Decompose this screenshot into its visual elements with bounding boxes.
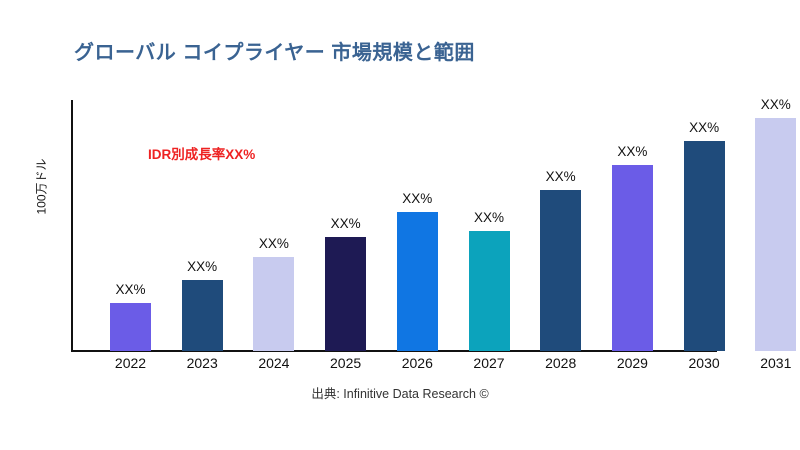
bar-2027[interactable]	[469, 231, 510, 351]
bar-2029[interactable]	[612, 165, 653, 351]
bar-value-label-2024: XX%	[239, 236, 308, 251]
bar-value-label-2026: XX%	[383, 191, 452, 206]
x-tick-label-2022: 2022	[94, 355, 167, 371]
bar-value-label-2025: XX%	[311, 216, 380, 231]
bar-value-label-2023: XX%	[168, 259, 237, 274]
x-tick-label-2026: 2026	[381, 355, 454, 371]
bar-2025[interactable]	[325, 237, 366, 351]
x-tick-label-2024: 2024	[237, 355, 310, 371]
bar-value-label-2029: XX%	[598, 144, 667, 159]
bar-value-label-2022: XX%	[96, 282, 165, 297]
x-tick-label-2030: 2030	[668, 355, 741, 371]
source-note: 出典: Infinitive Data Research ©	[0, 383, 800, 402]
bar-2023[interactable]	[182, 280, 223, 351]
x-tick-label-2025: 2025	[309, 355, 382, 371]
x-tick-label-2028: 2028	[524, 355, 597, 371]
x-tick-label-2027: 2027	[453, 355, 526, 371]
bar-value-label-2027: XX%	[455, 210, 524, 225]
chart-container: グローバル コイプライヤー 市場規模と範囲 IDR別成長率XX% 100万ドル …	[0, 0, 800, 450]
bar-2026[interactable]	[397, 212, 438, 351]
x-tick-label-2029: 2029	[596, 355, 669, 371]
bar-2028[interactable]	[540, 190, 581, 351]
bar-value-label-2028: XX%	[526, 169, 595, 184]
bar-2030[interactable]	[684, 141, 725, 351]
x-tick-label-2031: 2031	[739, 355, 800, 371]
bar-2022[interactable]	[110, 303, 151, 351]
x-tick-label-2023: 2023	[166, 355, 239, 371]
bar-2031[interactable]	[755, 118, 796, 351]
bar-value-label-2031: XX%	[741, 97, 800, 112]
bar-value-label-2030: XX%	[670, 120, 739, 135]
bar-2024[interactable]	[253, 257, 294, 351]
